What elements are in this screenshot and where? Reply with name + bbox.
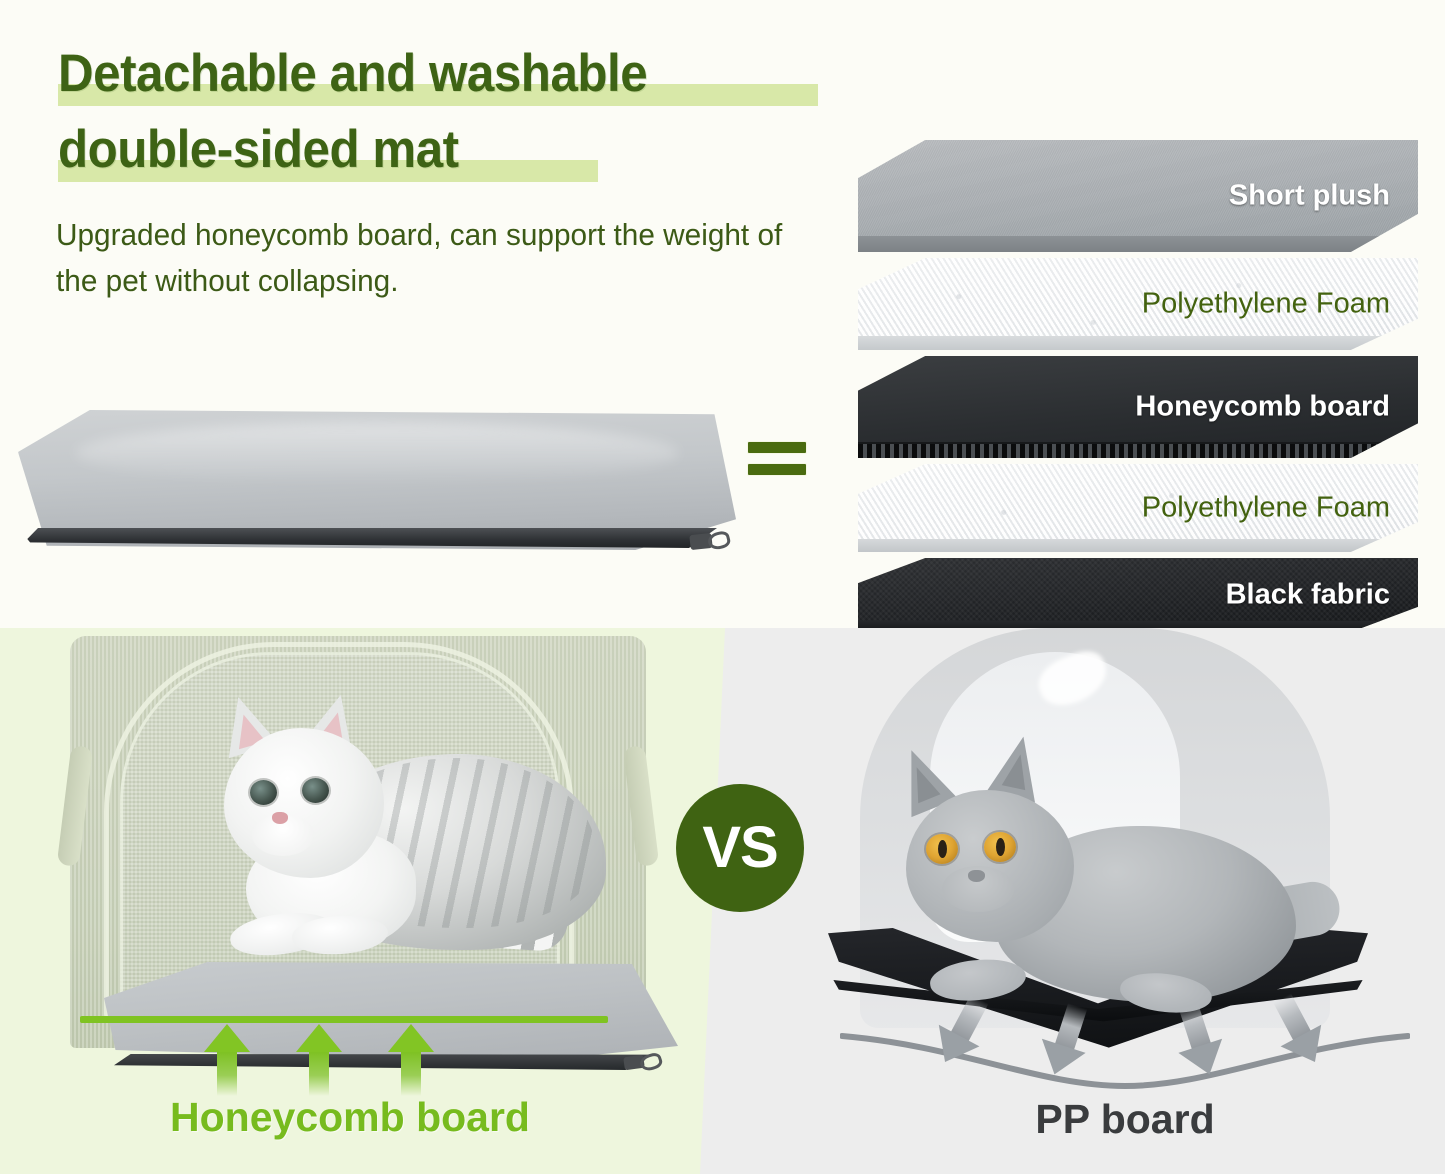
headline-text-2: double-sided mat [58, 112, 459, 188]
layer-edge [858, 621, 1418, 628]
layer-label-foam-bottom: Polyethylene Foam [1142, 492, 1390, 525]
honeycomb-board-caption: Honeycomb board [80, 1094, 620, 1141]
arrow-shaft [401, 1050, 421, 1096]
layer-label-honeycomb-board: Honeycomb board [1135, 391, 1390, 424]
pp-board-caption: PP board [840, 1096, 1410, 1143]
arrow-up-icon [204, 1024, 250, 1096]
subheadline-text: Upgraded honeycomb board, can support th… [56, 212, 786, 303]
layer-edge [858, 236, 1418, 252]
arrow-shaft [217, 1050, 237, 1096]
layer-polyethylene-foam-bottom: Polyethylene Foam [858, 464, 1418, 552]
cat-head [906, 790, 1074, 942]
cat-eye-right [302, 778, 329, 803]
equals-icon [748, 440, 806, 486]
headline-line-1: Detachable and washable [58, 36, 848, 112]
infographic-page: Detachable and washable double-sided mat… [0, 0, 1445, 1174]
headline-line-2: double-sided mat [58, 112, 848, 188]
arrow-up-icon [296, 1024, 342, 1096]
headline-text-1: Detachable and washable [58, 36, 647, 112]
cat-nose [272, 812, 288, 824]
pp-board-callout: PP board [800, 1000, 1445, 1174]
arrow-head [204, 1024, 250, 1052]
layer-label-foam-top: Polyethylene Foam [1142, 288, 1390, 321]
pet-carrier-illustration [58, 636, 658, 1056]
cat-silver-tabby [168, 702, 608, 992]
cat-nose [968, 870, 985, 882]
layer-edge [858, 336, 1418, 350]
top-section: Detachable and washable double-sided mat… [0, 0, 1445, 628]
cat-british-shorthair [886, 738, 1326, 1028]
cat-head [224, 728, 384, 878]
layer-honeycomb-board: Honeycomb board [858, 356, 1418, 458]
arrow-head [296, 1024, 342, 1052]
zipper-icon [690, 532, 732, 560]
cat-pupil-left [938, 840, 947, 858]
mat-sheen [75, 422, 678, 484]
honeycomb-callout: Honeycomb board [0, 1008, 700, 1174]
cat-pupil-right [996, 838, 1005, 856]
support-line-straight [80, 1016, 608, 1023]
cat-eye-left [250, 780, 277, 805]
arrow-head [388, 1024, 434, 1052]
layer-stack-diagram: Short plush Polyethylene Foam Honeycomb … [858, 140, 1428, 568]
headline: Detachable and washable double-sided mat [58, 36, 848, 188]
layer-polyethylene-foam-top: Polyethylene Foam [858, 258, 1418, 350]
layer-short-plush: Short plush [858, 140, 1418, 252]
honeycomb-flute-edge [858, 442, 1418, 458]
layer-label-black-fabric: Black fabric [1226, 579, 1390, 612]
arrow-up-icon [388, 1024, 434, 1096]
layer-label-short-plush: Short plush [1229, 180, 1390, 213]
layer-edge [858, 539, 1418, 552]
vs-badge: VS [676, 784, 804, 912]
plush-mat-product [18, 400, 738, 580]
equals-bar-bottom [748, 464, 806, 475]
layer-black-fabric: Black fabric [858, 558, 1418, 628]
equals-bar-top [748, 442, 806, 453]
arrow-shaft [309, 1050, 329, 1096]
vs-label: VS [702, 819, 777, 877]
